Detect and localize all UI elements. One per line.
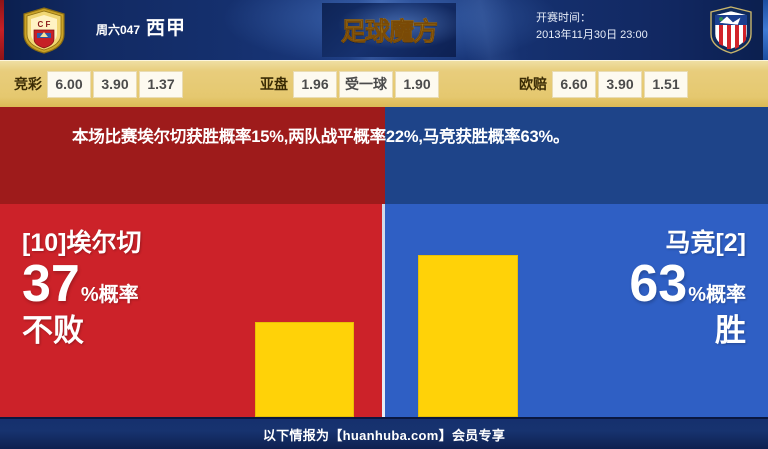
odds-group-yapan: 亚盘 1.96 受一球 1.90 <box>260 71 441 98</box>
banner-right-half <box>385 107 768 204</box>
footer-text: 以下情报为【huanhuba.com】会员专享 <box>263 425 505 444</box>
odds-value-handicap[interactable]: 受一球 <box>339 71 393 98</box>
home-percent-row: 37 %概率 <box>22 258 141 310</box>
chart-bar-home <box>255 322 354 417</box>
brand-logo: 足球魔方 <box>322 3 456 57</box>
odds-group-label: 亚盘 <box>260 74 288 94</box>
away-team-stats: 马竞[2] 63 %概率 胜 <box>629 230 746 348</box>
odds-value-away[interactable]: 1.90 <box>395 71 439 98</box>
probability-summary-banner <box>0 107 768 204</box>
kickoff-label: 开赛时间： <box>536 10 648 27</box>
match-league: 西甲 <box>146 13 186 40</box>
kickoff-info: 开赛时间： 2013年11月30日 23:00 <box>536 10 648 44</box>
probability-summary-text: 本场比赛埃尔切获胜概率15%,两队战平概率22%,马竞获胜概率63%。 <box>72 124 712 151</box>
home-team-stats: [10]埃尔切 37 %概率 不败 <box>22 230 141 348</box>
header-bar: C F 周六047 西甲 足球魔方 开赛时间： 2013年11月30日 23:0… <box>0 0 768 60</box>
probability-chart: [10]埃尔切 37 %概率 不败 马竞[2] 63 %概率 胜 <box>0 204 768 417</box>
banner-left-half <box>0 107 385 204</box>
odds-value-draw[interactable]: 3.90 <box>93 71 137 98</box>
away-percent-value: 63 <box>629 258 687 310</box>
odds-value-home[interactable]: 6.60 <box>552 71 596 98</box>
kickoff-time: 2013年11月30日 23:00 <box>536 27 648 44</box>
footer-bar: 以下情报为【huanhuba.com】会员专享 <box>0 417 768 449</box>
odds-value-draw[interactable]: 3.90 <box>598 71 642 98</box>
svg-text:C F: C F <box>38 20 51 29</box>
elche-cf-crest-icon: C F <box>20 6 68 54</box>
match-probability-infographic: C F 周六047 西甲 足球魔方 开赛时间： 2013年11月30日 23:0… <box>0 0 768 449</box>
odds-group-oupei: 欧赔 6.60 3.90 1.51 <box>519 71 690 98</box>
away-percent-row: 63 %概率 <box>629 258 746 310</box>
odds-value-home[interactable]: 1.96 <box>293 71 337 98</box>
home-percent-suffix: %概率 <box>81 285 139 305</box>
odds-value-home[interactable]: 6.00 <box>47 71 91 98</box>
odds-group-label: 欧赔 <box>519 74 547 94</box>
home-percent-value: 37 <box>22 258 80 310</box>
match-round: 周六047 <box>96 21 140 38</box>
odds-bar: 竞彩 6.00 3.90 1.37 亚盘 1.96 受一球 1.90 欧赔 6.… <box>0 60 768 107</box>
away-percent-suffix: %概率 <box>688 285 746 305</box>
odds-group-jingcai: 竞彩 6.00 3.90 1.37 <box>14 71 185 98</box>
odds-value-away[interactable]: 1.37 <box>139 71 183 98</box>
away-team-name: 马竞[2] <box>629 230 746 256</box>
home-team-name: [10]埃尔切 <box>22 230 141 256</box>
header-right-accent <box>763 0 768 60</box>
match-info: 周六047 西甲 <box>96 13 186 40</box>
home-outcome-label: 不败 <box>22 314 141 348</box>
odds-group-label: 竞彩 <box>14 74 42 94</box>
brand-logo-text: 足球魔方 <box>341 12 437 48</box>
atletico-madrid-crest-icon <box>708 5 754 55</box>
away-outcome-label: 胜 <box>629 314 746 348</box>
odds-value-away[interactable]: 1.51 <box>644 71 688 98</box>
chart-bar-away <box>418 255 518 417</box>
header-left-accent <box>0 0 4 60</box>
